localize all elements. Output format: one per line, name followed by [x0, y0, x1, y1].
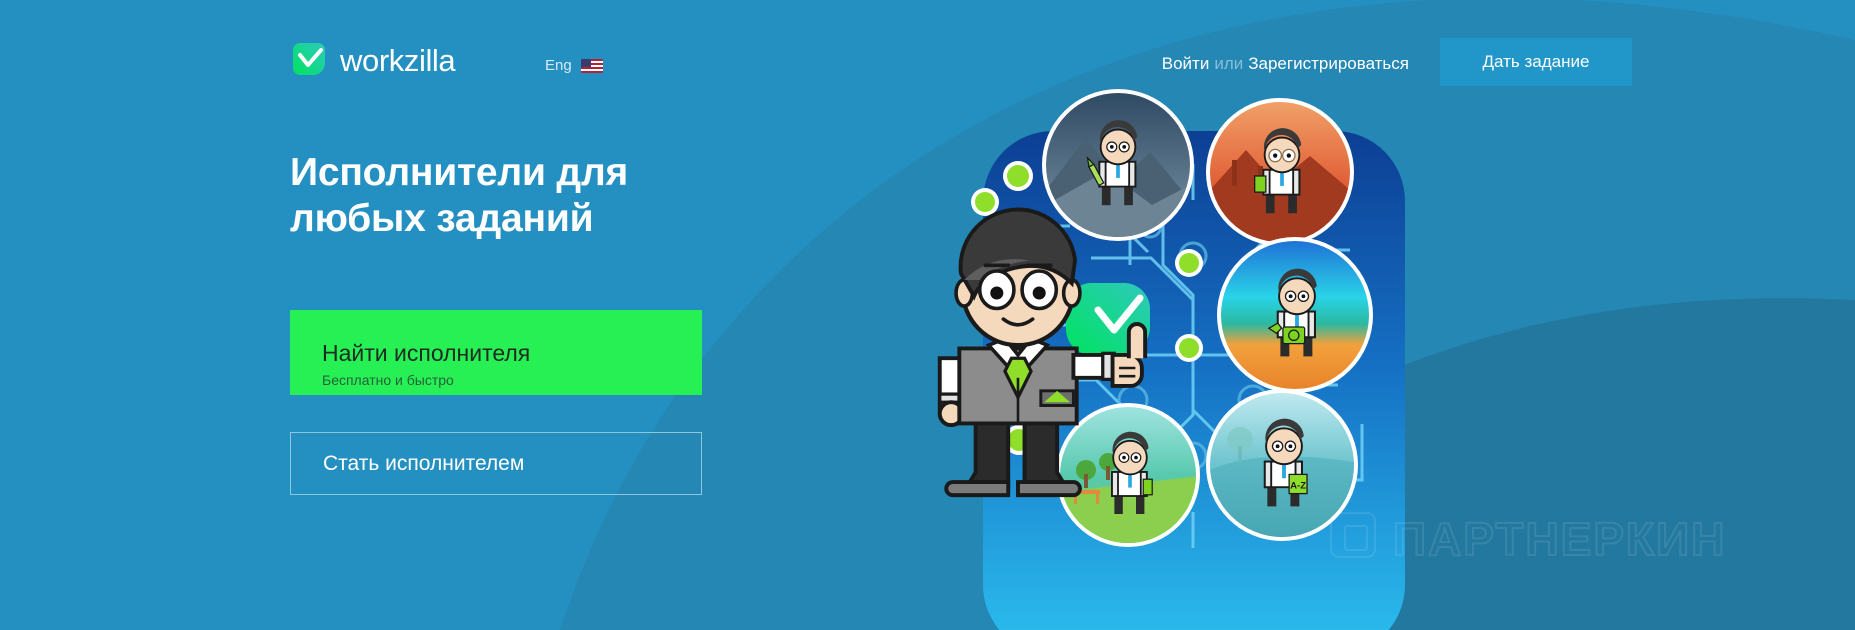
brand-logo[interactable]: workzilla: [290, 40, 455, 78]
find-performer-button[interactable]: Найти исполнителя Бесплатно и быстро: [290, 310, 702, 395]
auth-links: ВойтиилиЗарегистрироваться: [1162, 54, 1409, 74]
avatar-developer: [1217, 237, 1373, 393]
avatar-designer: [1042, 89, 1194, 241]
register-link[interactable]: Зарегистрироваться: [1248, 54, 1409, 73]
us-flag-icon: [581, 59, 603, 73]
language-selector[interactable]: Eng: [545, 57, 603, 74]
hero-title-line2: любых заданий: [290, 197, 593, 240]
become-performer-button[interactable]: Стать исполнителем: [290, 432, 702, 495]
login-link[interactable]: Войти: [1162, 54, 1210, 73]
checkmark-logo-icon: [290, 40, 328, 78]
find-performer-label: Найти исполнителя: [322, 341, 702, 365]
hero-heading: Исполнители для любых заданий: [290, 150, 710, 242]
find-performer-sublabel: Бесплатно и быстро: [322, 372, 702, 388]
avatar-writer: [1206, 98, 1354, 246]
post-task-button[interactable]: Дать задание: [1440, 38, 1632, 86]
brand-name: workzilla: [340, 45, 455, 76]
avatar-translator: A-Z: [1206, 389, 1358, 541]
auth-separator: или: [1214, 54, 1243, 73]
svg-text:A-Z: A-Z: [1290, 480, 1306, 491]
hero-title-line1: Исполнители для: [290, 151, 628, 194]
language-label: Eng: [545, 57, 572, 74]
site-header: workzilla Eng ВойтиилиЗарегистрироваться…: [0, 0, 1855, 105]
